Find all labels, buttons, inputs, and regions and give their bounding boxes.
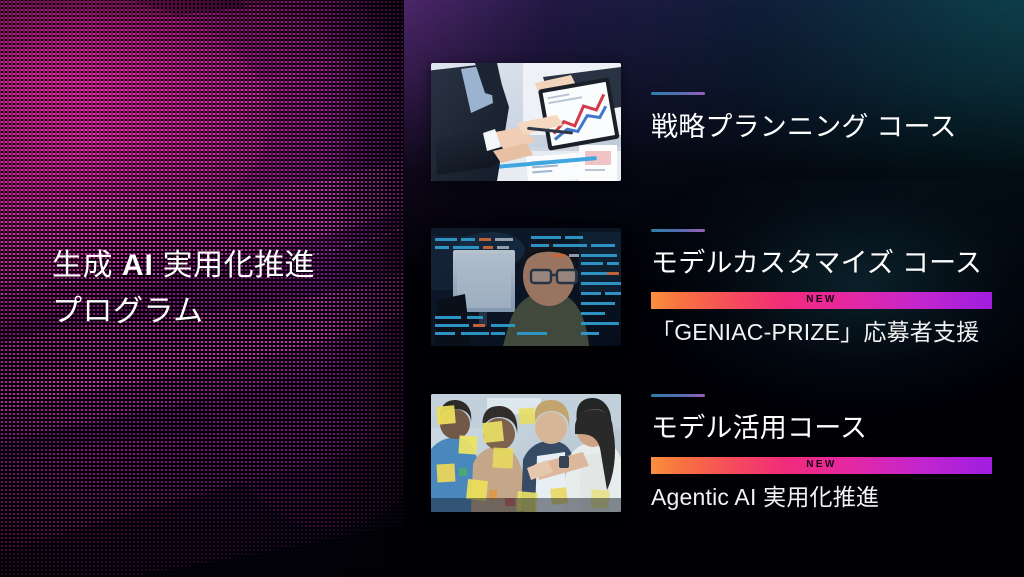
page-title: 生成 AI 実用化推進 プログラム	[52, 243, 382, 334]
course-1-title: 戦略プランニング コース	[651, 111, 999, 145]
left-hero-panel: 生成 AI 実用化推進 プログラム	[0, 0, 404, 577]
course-2-new-badge-label: NEW	[806, 295, 837, 305]
course-3-title: モデル活用コース	[651, 412, 999, 446]
course-2-new-badge: NEW	[651, 292, 992, 309]
course-3-new-badge: NEW	[651, 457, 992, 474]
course-thumbnail-team-collaboration	[431, 394, 621, 512]
course-3-accent-rule	[651, 394, 705, 397]
page-title-prefix: 生成	[52, 249, 122, 282]
course-thumbnail-business-meeting	[431, 63, 621, 181]
course-3-subtitle: Agentic AI 実用化推進	[651, 483, 999, 513]
course-2-title: モデルカスタマイズ コース	[651, 247, 999, 281]
course-3-new-badge-label: NEW	[806, 460, 837, 470]
page-title-suffix: 実用化推進	[154, 249, 315, 282]
page-title-line2: プログラム	[52, 295, 204, 328]
course-3-text-block: モデル活用コース NEW Agentic AI 実用化推進	[651, 412, 999, 513]
course-2-accent-rule	[651, 229, 705, 232]
presentation-slide: 生成 AI 実用化推進 プログラム	[0, 0, 1024, 577]
course-1-accent-rule	[651, 92, 705, 95]
courses-panel: 戦略プランニング コース	[404, 0, 1024, 577]
course-2-subtitle: 「GENIAC-PRIZE」応募者支援	[651, 318, 999, 348]
course-1-text-block: 戦略プランニング コース	[651, 92, 999, 145]
course-thumbnail-developer-code	[431, 228, 621, 346]
course-2-text-block: モデルカスタマイズ コース NEW 「GENIAC-PRIZE」応募者支援	[651, 229, 999, 348]
page-title-ai: AI	[122, 249, 154, 282]
